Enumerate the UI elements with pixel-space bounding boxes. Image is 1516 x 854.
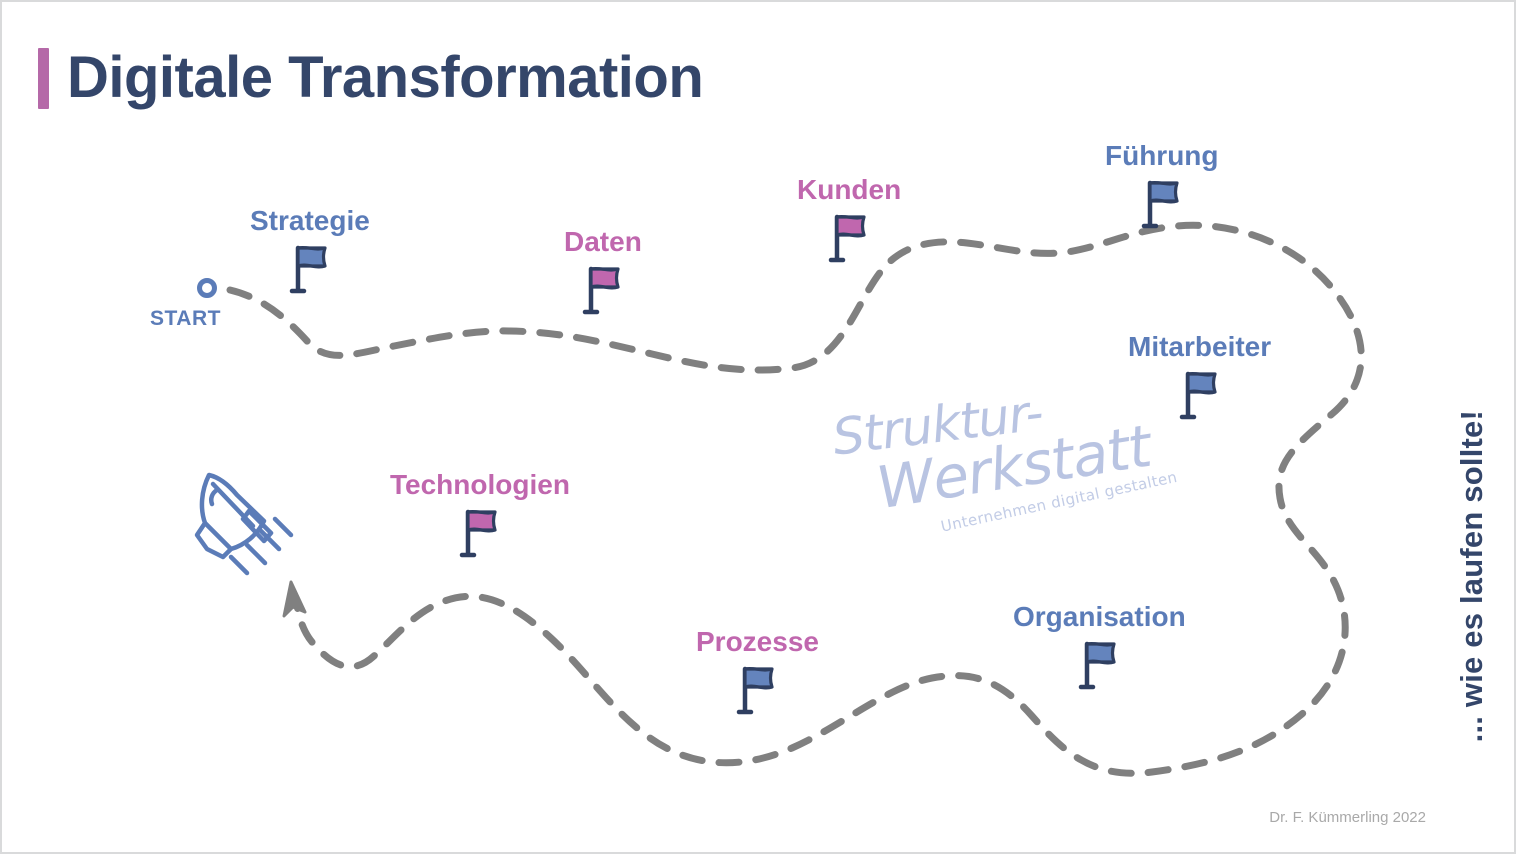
flag-icon	[1139, 177, 1185, 231]
start-label: START	[150, 307, 221, 331]
flag-icon	[287, 242, 333, 296]
flag-icon	[1076, 638, 1122, 692]
flag-icon	[826, 211, 872, 265]
journey-path	[2, 2, 1516, 854]
page-title-block: Digitale Transformation	[38, 48, 703, 109]
page-title: Digitale Transformation	[67, 48, 703, 109]
milestone-label: Führung	[1105, 142, 1219, 170]
milestone-label: Prozesse	[696, 628, 819, 656]
milestone-label: Technologien	[390, 471, 570, 499]
milestone-technologien: Technologien	[390, 471, 570, 560]
rocket-icon	[187, 457, 297, 582]
milestone-label: Strategie	[250, 207, 370, 235]
milestone-fhrung: Führung	[1105, 142, 1219, 231]
flag-icon	[1177, 368, 1223, 422]
flag-icon	[580, 263, 626, 317]
footer-credit: Dr. F. Kümmerling 2022	[1269, 809, 1426, 826]
milestone-organisation: Organisation	[1013, 603, 1186, 692]
start-marker: START	[150, 278, 221, 331]
brand-logo: Struktur- Werkstatt Unternehmen digital …	[830, 376, 1154, 517]
milestone-strategie: Strategie	[250, 207, 370, 296]
milestone-daten: Daten	[564, 228, 642, 317]
slide-canvas: Digitale Transformation START	[0, 0, 1516, 854]
milestone-prozesse: Prozesse	[696, 628, 819, 717]
flag-icon	[457, 506, 503, 560]
flag-icon	[734, 663, 780, 717]
milestone-label: Daten	[564, 228, 642, 256]
title-accent-bar	[38, 48, 49, 109]
milestone-kunden: Kunden	[797, 176, 901, 265]
arrow-head-icon	[284, 582, 305, 616]
milestone-label: Kunden	[797, 176, 901, 204]
milestone-label: Organisation	[1013, 603, 1186, 631]
milestone-mitarbeiter: Mitarbeiter	[1128, 333, 1271, 422]
side-caption: ... wie es laufen sollte!	[1454, 410, 1490, 742]
milestone-label: Mitarbeiter	[1128, 333, 1271, 361]
start-circle-icon	[197, 278, 217, 298]
